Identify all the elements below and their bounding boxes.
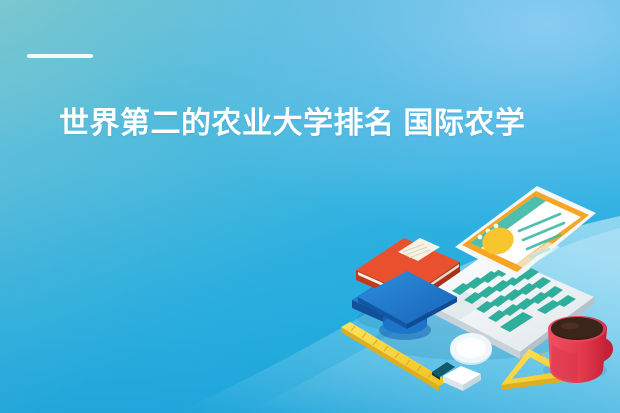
accent-rule: [27, 54, 93, 58]
page-title: 世界第二的农业大学排名 国际农学: [59, 105, 579, 143]
promo-banner: 世界第二的农业大学排名 国际农学: [0, 0, 620, 413]
education-illustration: [0, 0, 620, 413]
